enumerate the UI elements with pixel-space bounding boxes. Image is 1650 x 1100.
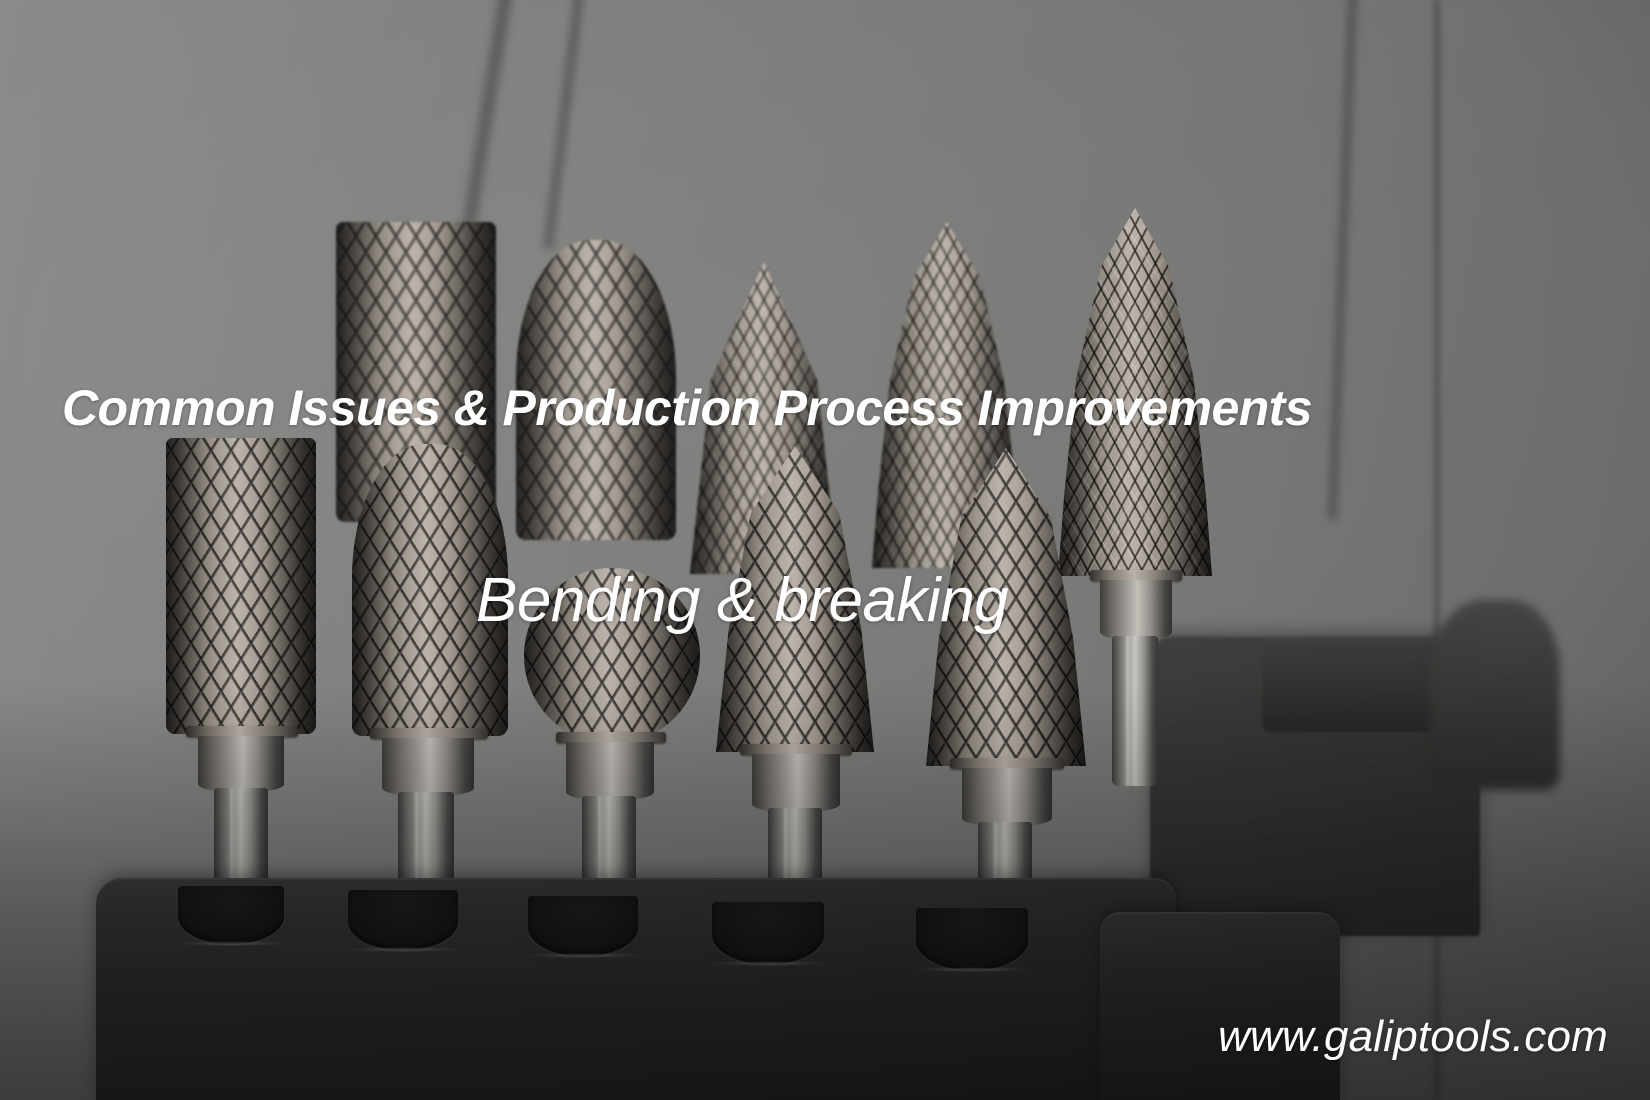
photo-background xyxy=(0,0,1650,1100)
watermark-url: www.galiptools.com xyxy=(1218,1012,1608,1062)
banner-image: Common Issues & Production Process Impro… xyxy=(0,0,1650,1100)
page-subtitle: Bending & breaking xyxy=(476,565,1008,636)
page-title: Common Issues & Production Process Impro… xyxy=(62,379,1602,437)
